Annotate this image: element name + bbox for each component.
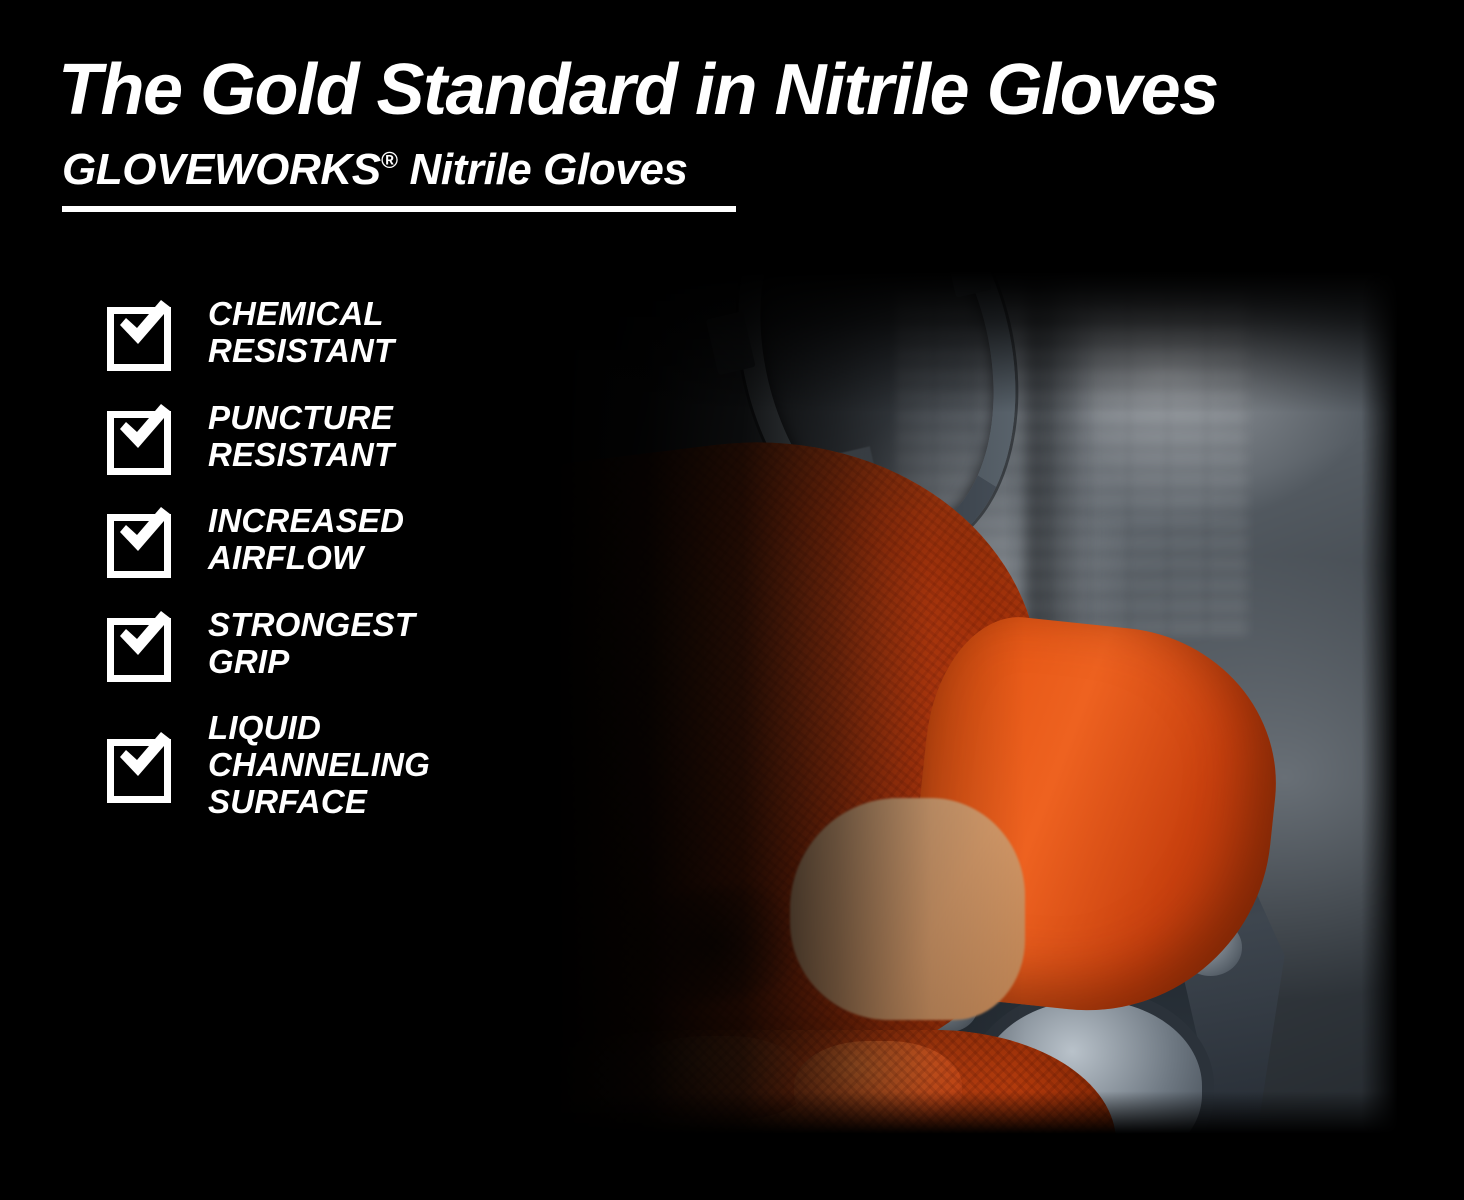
- checkbox-checked-icon: [106, 504, 178, 576]
- photo-right-fade: [248, 150, 1426, 1162]
- feature-label: STRONGEST GRIP: [208, 607, 415, 681]
- feature-label: CHEMICAL RESISTANT: [208, 296, 394, 370]
- checkbox-checked-icon: [106, 729, 178, 801]
- photo-plate: 45: [248, 150, 1426, 1162]
- brand-subtitle-suffix: Nitrile Gloves: [398, 145, 688, 194]
- brand-subtitle: GLOVEWORKS® Nitrile Gloves: [62, 148, 688, 192]
- feature-label: PUNCTURE RESISTANT: [208, 400, 394, 474]
- checkbox-checked-icon: [106, 608, 178, 680]
- feature-item-liquid-channeling-surface: LIQUID CHANNELING SURFACE: [106, 710, 430, 821]
- feature-item-strongest-grip: STRONGEST GRIP: [106, 607, 415, 681]
- checkbox-checked-icon: [106, 297, 178, 369]
- registered-trademark-icon: ®: [381, 147, 398, 173]
- feature-item-increased-airflow: INCREASED AIRFLOW: [106, 503, 404, 577]
- page-title: The Gold Standard in Nitrile Gloves: [58, 54, 1218, 126]
- feature-label: LIQUID CHANNELING SURFACE: [208, 710, 430, 821]
- divider: [62, 206, 736, 212]
- checkbox-checked-icon: [106, 401, 178, 473]
- brand-name: GLOVEWORKS: [62, 145, 381, 194]
- nitrile-gloves-banner: 45: [0, 0, 1464, 1200]
- feature-item-chemical-resistant: CHEMICAL RESISTANT: [106, 296, 394, 370]
- feature-label: INCREASED AIRFLOW: [208, 503, 404, 577]
- feature-item-puncture-resistant: PUNCTURE RESISTANT: [106, 400, 394, 474]
